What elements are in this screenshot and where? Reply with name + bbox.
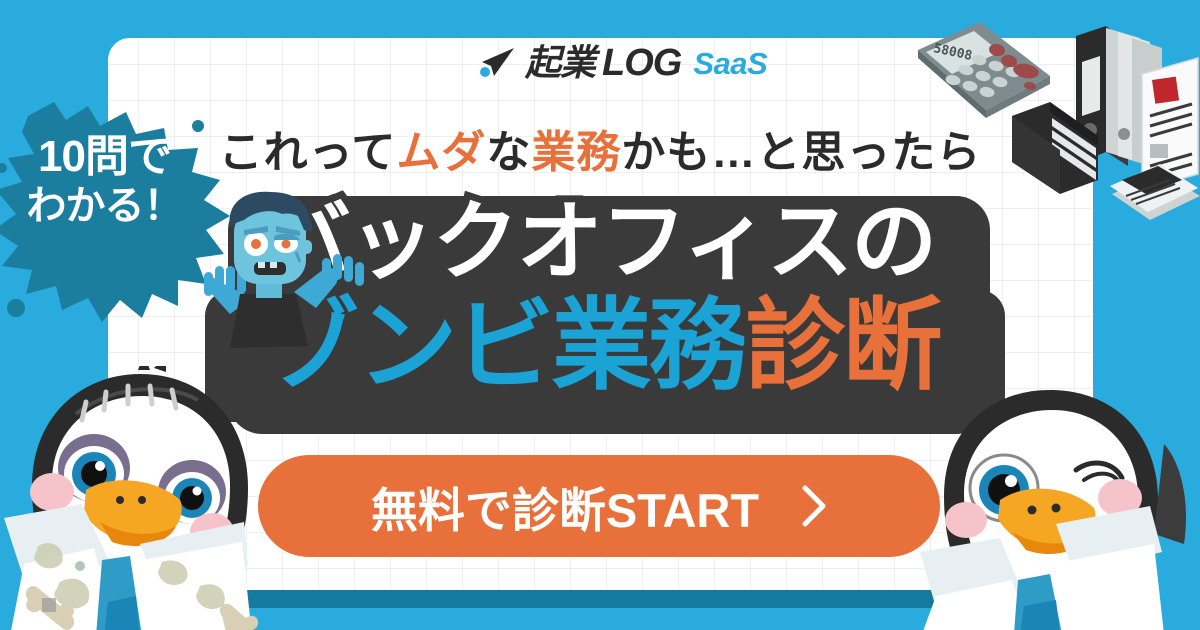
tagline-part2: な (486, 128, 531, 177)
paper-plane-icon (478, 46, 518, 80)
cta-label: 無料で診断START (371, 472, 759, 541)
promo-banner: 58008 (0, 0, 1200, 630)
healthy-penguin-character (918, 384, 1200, 630)
zombie-character (196, 186, 376, 356)
start-diagnosis-button[interactable]: 無料で診断START (258, 455, 940, 557)
headline-line1: バックオフィスの (0, 199, 1200, 285)
tagline-highlight2: 業務 (531, 128, 621, 177)
zombie-penguin-character (0, 366, 290, 630)
badge-line1: 10問で (0, 132, 217, 183)
brand-logo: 起業 LOG SaaS (478, 44, 767, 82)
tagline-highlight1: ムダ (396, 128, 486, 177)
logo-jp-text: 起業 (525, 45, 595, 81)
logo-sub-text: SaaS (693, 48, 767, 79)
tagline-part1: これって (219, 128, 397, 177)
calculator-icon: 58008 (918, 22, 1050, 118)
headline-line2-orange: 診断 (746, 290, 940, 402)
chevron-right-icon (801, 484, 827, 528)
tagline-part3: かも…と思ったら (621, 128, 981, 177)
logo-en-text: LOG (602, 44, 681, 82)
